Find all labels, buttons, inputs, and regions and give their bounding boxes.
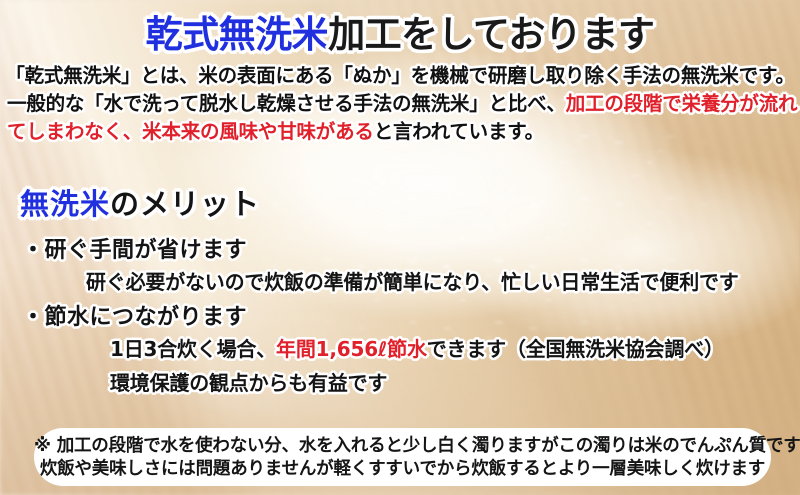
merit-heading-rest: のメリット xyxy=(110,187,260,221)
merit-heading-highlight: 無洗米 xyxy=(20,187,110,221)
intro-line-3-red: てしまわなく、米本来の風味や甘味がある xyxy=(7,120,374,143)
notice-box: ※ 加工の段階で水を使わない分、水を入れると少し白く濁りますがこの濁りは米のでん… xyxy=(34,428,771,486)
intro-line-3: てしまわなく、米本来の風味や甘味があると言われています。 xyxy=(0,118,800,146)
merit-1-detail: 研ぐ必要がないので炊飯の準備が簡単になり、忙しい日常生活で便利です xyxy=(86,272,739,292)
headline-rest: 加工をしております xyxy=(328,13,654,56)
merit-2-bullet: ・節水につながります xyxy=(22,307,247,329)
merit-1-bullet: ・研ぐ手間が省けます xyxy=(22,240,247,262)
intro-paragraph: 「乾式無洗米」とは、米の表面にある「ぬか」を機械で研磨し取り除く手法の無洗米です… xyxy=(0,62,800,146)
merit-2-detail-prefix: 1日3合炊く場合、 xyxy=(110,337,276,361)
notice-line-2: 炊飯や美味しさには問題ありませんが軽くすすいでから炊飯するとより一層美味しく炊け… xyxy=(34,458,771,481)
intro-line-1: 「乾式無洗米」とは、米の表面にある「ぬか」を機械で研磨し取り除く手法の無洗米です… xyxy=(0,62,800,90)
intro-line-3-plain: と言われています。 xyxy=(374,120,544,143)
intro-line-2: 一般的な「水で洗って脱水し乾燥させる手法の無洗米」と比べ、加工の段階で栄養分が流… xyxy=(0,90,800,118)
intro-line-2-plain: 一般的な「水で洗って脱水し乾燥させる手法の無洗米」と比べ、 xyxy=(7,92,566,115)
headline-highlight: 乾式無洗米 xyxy=(146,13,329,56)
merit-2-detail-second: 環境保護の観点からも有益です xyxy=(110,373,387,393)
headline: 乾式無洗米加工をしております xyxy=(0,16,800,53)
merit-2-detail-suffix: できます（全国無洗米協会調べ） xyxy=(427,337,724,361)
merit-2-detail: 1日3合炊く場合、年間1,656ℓ節水できます（全国無洗米協会調べ） xyxy=(110,339,724,359)
notice-line-1: ※ 加工の段階で水を使わない分、水を入れると少し白く濁りますがこの濁りは米のでん… xyxy=(34,435,771,458)
intro-line-2-red: 加工の段階で栄養分が流れ xyxy=(566,92,798,115)
rice-product-poster: 乾式無洗米加工をしております 「乾式無洗米」とは、米の表面にある「ぬか」を機械で… xyxy=(0,0,800,495)
merit-heading: 無洗米のメリット xyxy=(20,190,260,219)
merit-2-detail-highlight: 年間1,656ℓ節水 xyxy=(276,337,427,361)
